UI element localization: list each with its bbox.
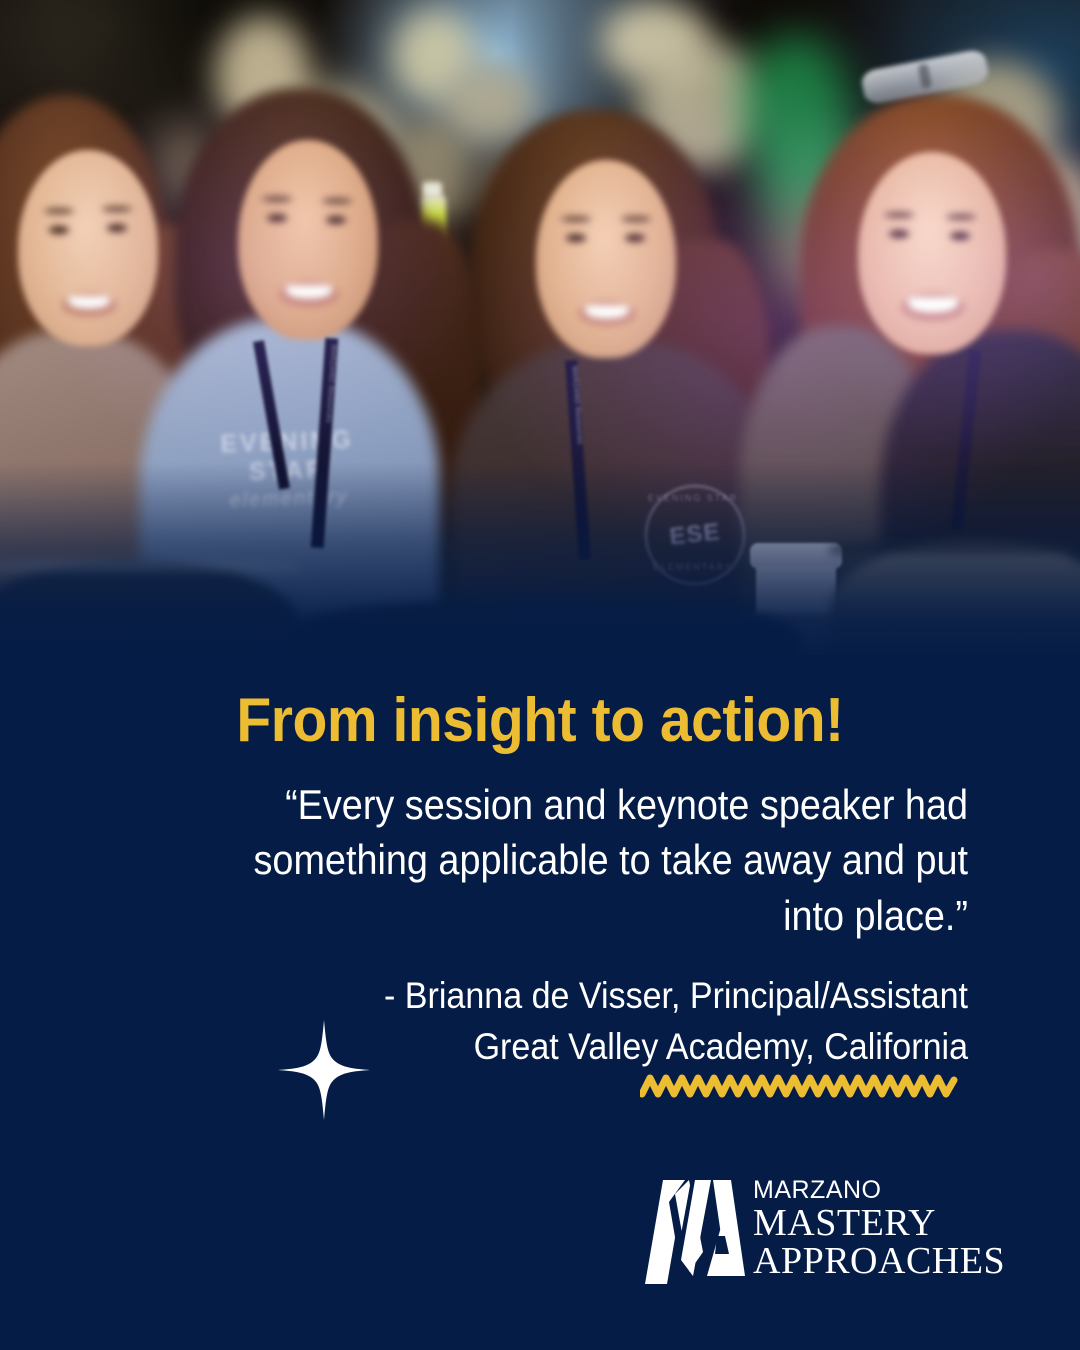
gold-zigzag-underline <box>640 1068 960 1102</box>
ma-monogram-icon <box>645 1180 745 1284</box>
headline: From insight to action! <box>43 688 1037 753</box>
logo-line-marzano: MARZANO <box>753 1178 1005 1203</box>
logo-line-mastery: MASTERY <box>753 1204 1005 1244</box>
poster-canvas: EVENING STAR elementary ESE EVENING STAR… <box>0 0 1080 1350</box>
conference-photo: EVENING STAR elementary ESE EVENING STAR… <box>0 0 1080 672</box>
quote-text: “Every session and keynote speaker had s… <box>198 777 968 943</box>
logo-wordmark: MARZANO MASTERY APPROACHES <box>753 1178 1005 1281</box>
four-point-sparkle-icon <box>276 1018 372 1122</box>
photo-fade-overlay <box>0 462 1080 672</box>
marzano-mastery-approaches-logo: MARZANO MASTERY APPROACHES <box>645 1178 1005 1288</box>
logo-line-approaches: APPROACHES <box>753 1242 1005 1282</box>
attribution-name: - Brianna de Visser, Principal/Assistant <box>384 975 968 1016</box>
